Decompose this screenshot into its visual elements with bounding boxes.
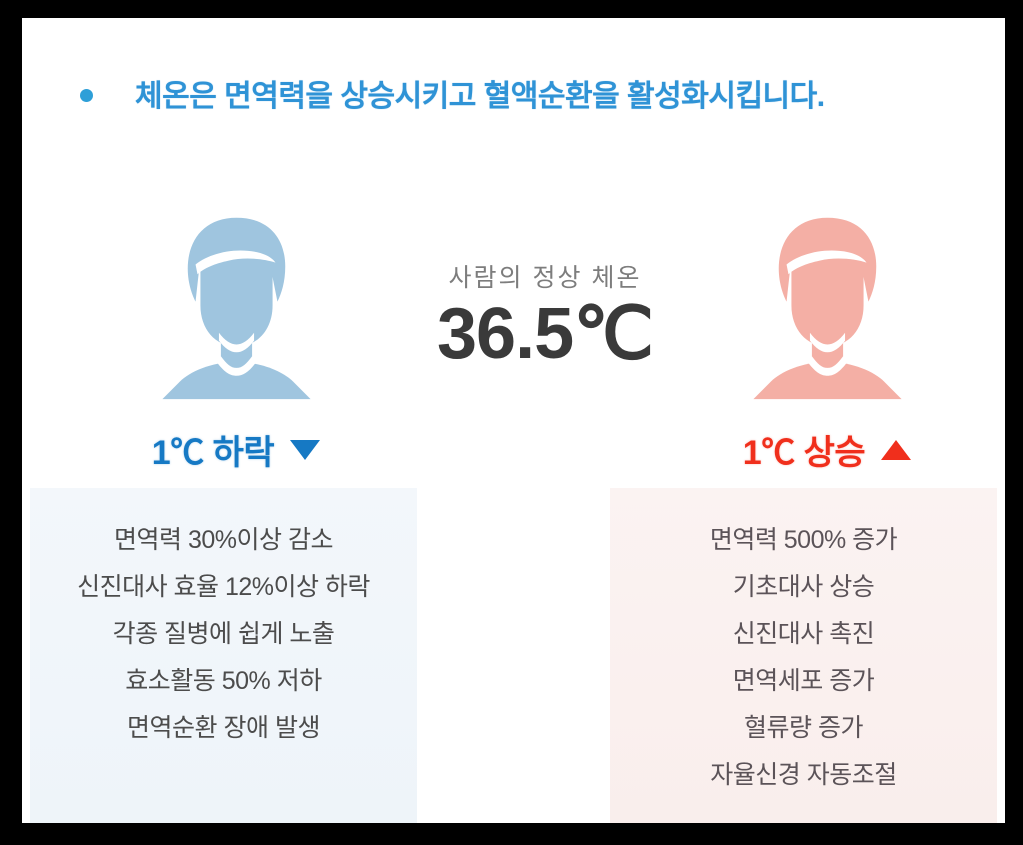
arrow-down-icon <box>290 440 320 460</box>
person-silhouette-blue-icon <box>139 208 334 403</box>
bullet-dot-icon <box>80 89 93 102</box>
headline-text: 체온은 면역력을 상승시키고 혈액순환을 활성화시킵니다. <box>135 71 825 115</box>
list-item: 신진대사 촉진 <box>733 622 874 647</box>
right-delta-text: 1℃ 상승 <box>743 425 865 474</box>
list-item: 기초대사 상승 <box>733 575 874 600</box>
temperature-value: 36.5℃ <box>400 298 690 370</box>
list-item: 면역력 500% 증가 <box>710 528 897 553</box>
list-item: 혈류량 증가 <box>744 716 863 741</box>
right-detail-box: 면역력 500% 증가 기초대사 상승 신진대사 촉진 면역세포 증가 혈류량 … <box>610 488 997 823</box>
left-detail-box: 면역력 30%이상 감소 신진대사 효율 12%이상 하락 각종 질병에 쉽게 … <box>30 488 417 823</box>
list-item: 효소활동 50% 저하 <box>125 669 321 694</box>
left-delta-text: 1℃ 하락 <box>152 425 274 474</box>
list-item: 면역순환 장애 발생 <box>127 716 320 741</box>
list-item: 각종 질병에 쉽게 노출 <box>113 622 335 647</box>
slide-frame: 체온은 면역력을 상승시키고 혈액순환을 활성화시킵니다. 1℃ 하락 <box>0 0 1023 845</box>
temperature-caption: 사람의 정상 체온 <box>400 258 690 294</box>
right-delta-label: 1℃ 상승 <box>677 425 977 474</box>
left-person-column: 1℃ 하락 <box>86 208 386 474</box>
list-item: 면역세포 증가 <box>733 669 874 694</box>
left-delta-label: 1℃ 하락 <box>86 425 386 474</box>
list-item: 자율신경 자동조절 <box>710 763 896 788</box>
slide-canvas: 체온은 면역력을 상승시키고 혈액순환을 활성화시킵니다. 1℃ 하락 <box>22 18 1005 823</box>
center-temperature-block: 사람의 정상 체온 36.5℃ <box>400 258 690 370</box>
headline-row: 체온은 면역력을 상승시키고 혈액순환을 활성화시킵니다. <box>80 63 960 123</box>
person-silhouette-pink-icon <box>730 208 925 403</box>
right-person-column: 1℃ 상승 <box>677 208 977 474</box>
list-item: 면역력 30%이상 감소 <box>114 528 333 553</box>
arrow-up-icon <box>881 440 911 460</box>
list-item: 신진대사 효율 12%이상 하락 <box>77 575 370 600</box>
